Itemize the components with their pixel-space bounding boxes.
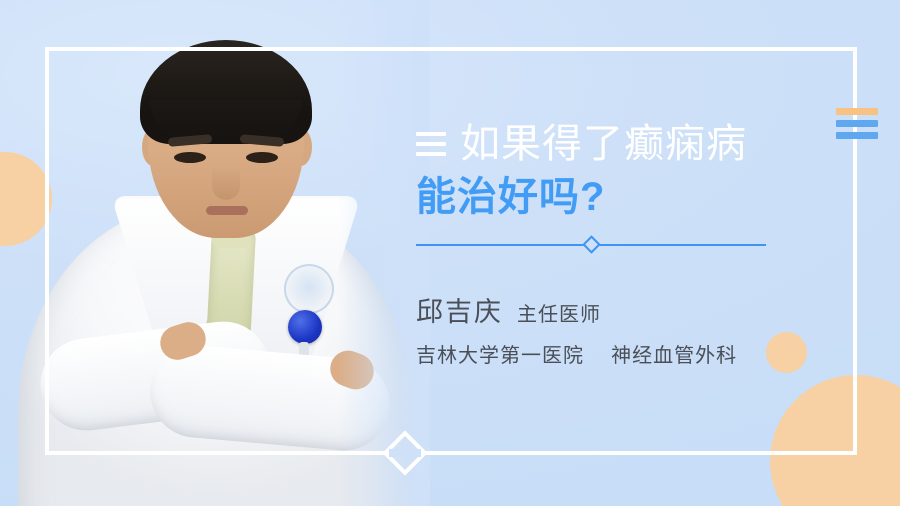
doctor-eye-left [174,152,206,163]
doctor-info: 邱吉庆 主任医师 吉林大学第一医院 神经血管外科 [416,290,836,368]
frame-diamond-mask [389,449,421,457]
bar-orange-icon [836,108,878,115]
doctor-affiliation-row: 吉林大学第一医院 神经血管外科 [416,339,836,368]
doctor-portrait [0,0,430,506]
doctor-nose [212,166,240,200]
doctor-department: 神经血管外科 [611,345,737,367]
content-column: 如果得了癫痫病 能治好吗? 邱吉庆 主任医师 吉林大学第一医院 神经血管外科 [416,118,836,368]
title-line-2: 能治好吗? [416,172,836,222]
badge-reel-icon [288,310,322,344]
doctor-hospital: 吉林大学第一医院 [416,345,584,367]
divider [416,236,766,254]
doctor-name: 邱吉庆 [416,290,503,329]
doctor-eye-right [246,152,278,163]
doctor-title: 主任医师 [517,298,601,327]
hamburger-bar-3 [416,152,446,156]
decor-bar-mark [836,108,878,139]
title-line-1: 如果得了癫痫病 [460,121,747,167]
cover-canvas: 如果得了癫痫病 能治好吗? 邱吉庆 主任医师 吉林大学第一医院 神经血管外科 [0,0,900,506]
hamburger-bar-1 [416,132,446,136]
bar-blue-1-icon [836,120,878,127]
divider-diamond-icon [582,235,600,253]
hamburger-bar-2 [416,142,446,146]
doctor-name-row: 邱吉庆 主任医师 [416,290,836,329]
hamburger-icon [416,132,446,156]
hospital-logo-icon [284,264,334,314]
bar-blue-2-icon [836,132,878,139]
title-row: 如果得了癫痫病 [416,118,836,170]
doctor-mouth [206,206,248,215]
doctor-hair [140,40,312,144]
